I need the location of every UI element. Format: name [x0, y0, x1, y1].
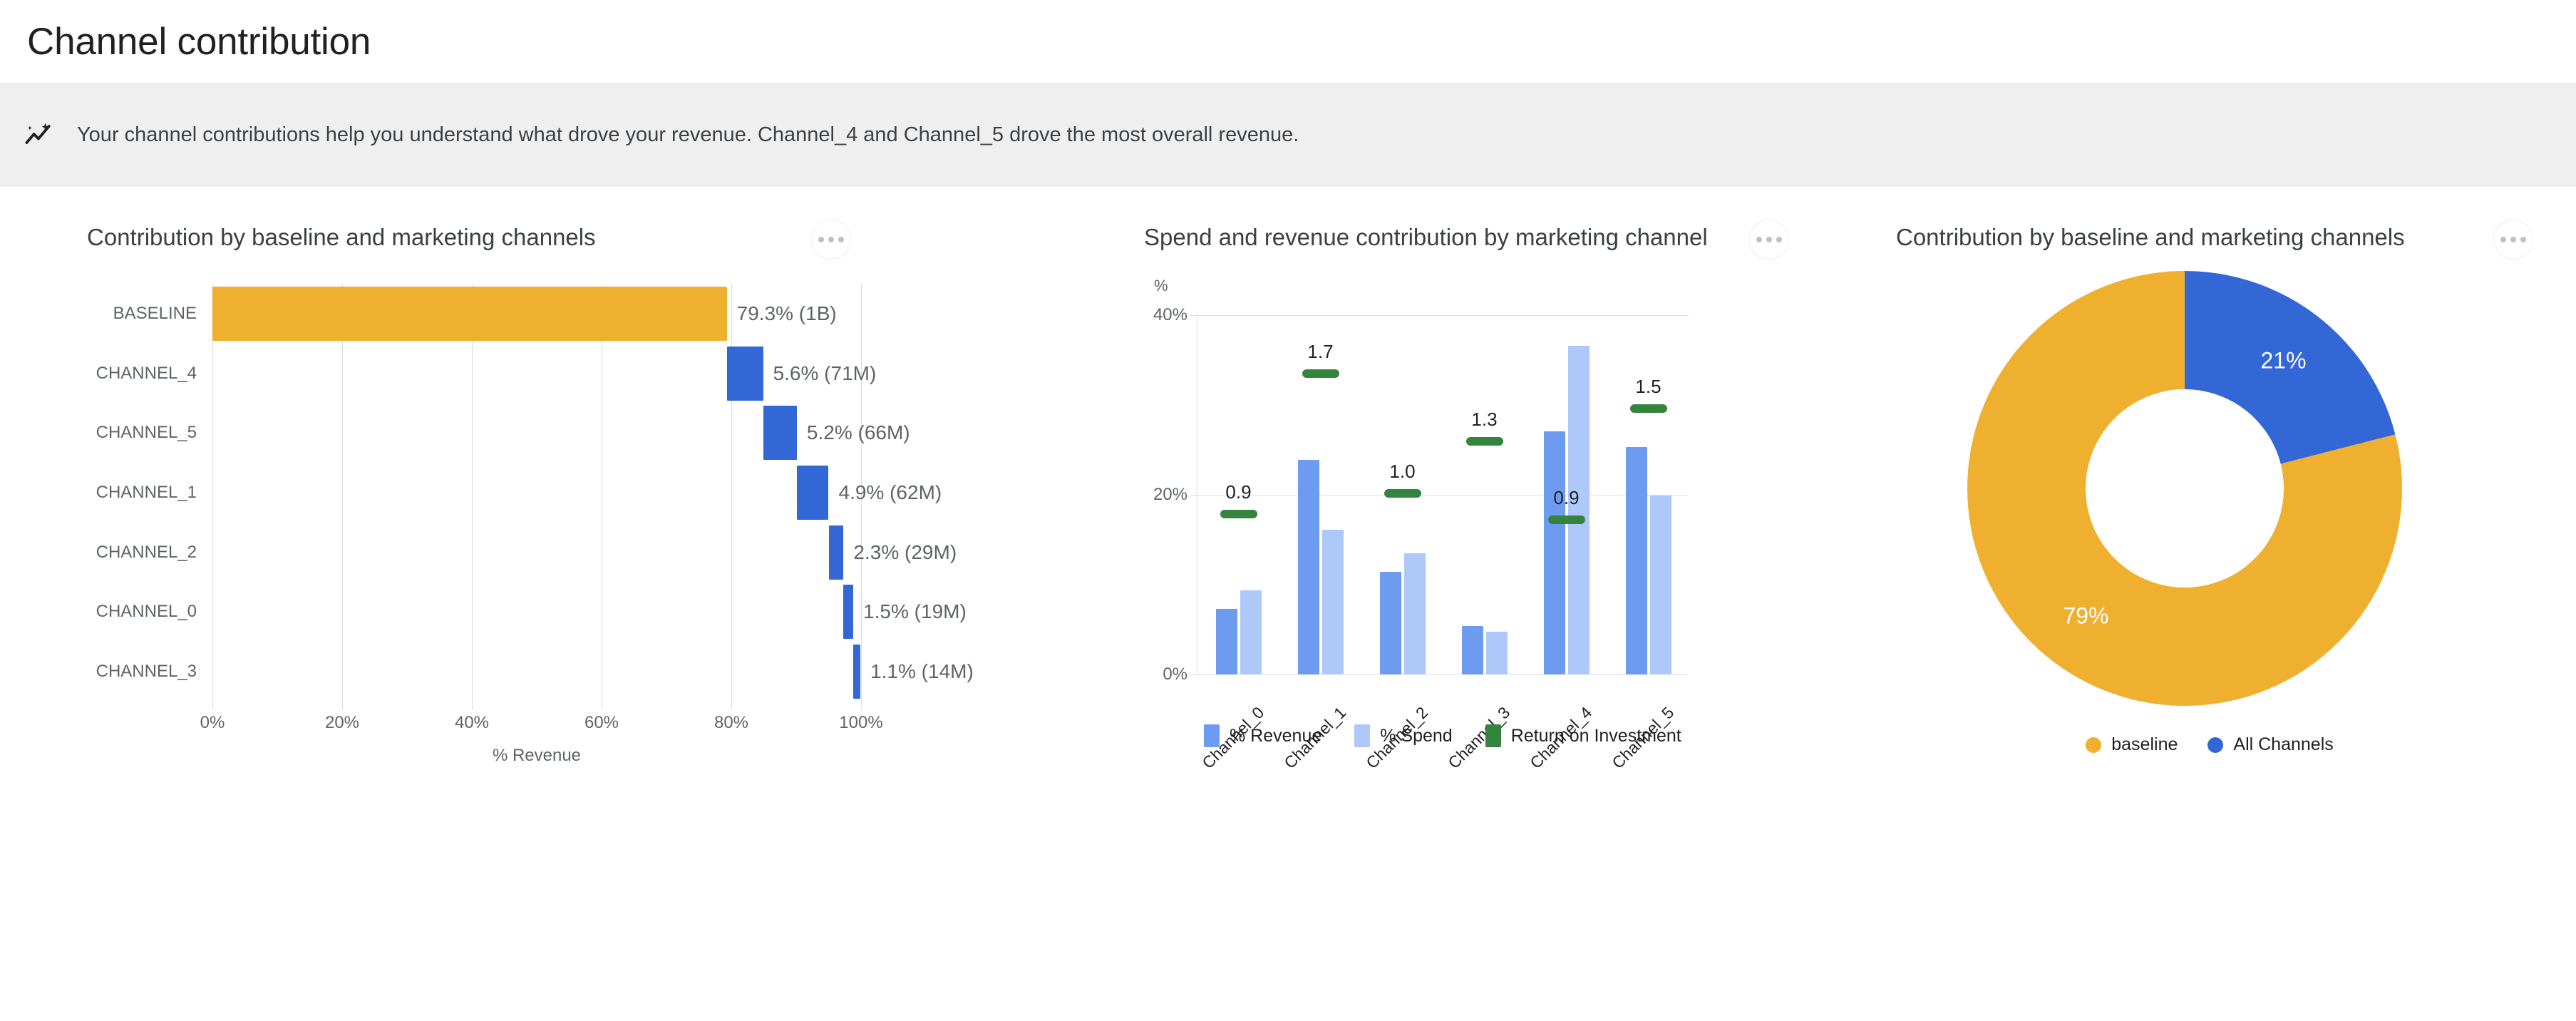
roi-value-label: 1.3 [1471, 409, 1497, 431]
card-title-grouped: Spend and revenue contribution by market… [1144, 224, 1708, 251]
card-header: Contribution by baseline and marketing c… [87, 224, 1062, 265]
donut-legend: baselineAll Channels [1896, 734, 2523, 755]
grouped-bar-group[interactable]: 1.0Channel_2 [1361, 315, 1443, 674]
waterfall-bar[interactable] [212, 287, 727, 341]
grouped-y-tick-label: 0% [1163, 665, 1187, 684]
spend-bar[interactable] [1322, 530, 1344, 674]
roi-value-label: 1.0 [1389, 461, 1415, 483]
dot [1766, 237, 1772, 242]
waterfall-x-tick [342, 702, 343, 710]
legend-swatch [1204, 724, 1220, 747]
roi-value-label: 0.9 [1225, 481, 1251, 503]
waterfall-bar[interactable] [797, 466, 829, 520]
roi-marker[interactable] [1302, 369, 1339, 378]
waterfall-bar[interactable] [853, 645, 860, 699]
grouped-legend-item[interactable]: % Spend [1354, 724, 1452, 747]
page-header: Channel contribution [0, 0, 2576, 83]
donut-hole [2086, 389, 2284, 588]
waterfall-value-label: 1.1% (14M) [870, 660, 974, 683]
spend-bar[interactable] [1404, 553, 1426, 674]
revenue-bar[interactable] [1298, 460, 1319, 674]
waterfall-x-tick-label: 100% [839, 713, 882, 733]
roi-marker[interactable] [1548, 515, 1585, 524]
grouped-legend-item[interactable]: % Revenue [1204, 724, 1322, 747]
waterfall-x-tick-label: 60% [584, 713, 619, 733]
legend-swatch [1354, 724, 1370, 747]
waterfall-value-label: 2.3% (29M) [853, 541, 957, 564]
dot [1776, 237, 1782, 242]
waterfall-x-axis: 0%20%40%60%80%100% [212, 702, 861, 740]
donut-legend-item[interactable]: All Channels [2207, 734, 2333, 755]
dot [828, 237, 834, 242]
legend-label: baseline [2111, 734, 2178, 755]
roi-value-label: 1.7 [1307, 341, 1333, 363]
legend-label: % Revenue [1230, 726, 1322, 746]
legend-dot [2086, 737, 2101, 753]
waterfall-row[interactable]: CHANNEL_31.1% (14M) [212, 642, 861, 702]
roi-value-label: 0.9 [1553, 487, 1579, 509]
roi-marker[interactable] [1466, 437, 1503, 446]
card-donut-contribution: Contribution by baseline and marketing c… [1818, 224, 2576, 770]
spend-bar[interactable] [1240, 590, 1262, 674]
roi-marker[interactable] [1220, 510, 1257, 518]
donut-label-all-channels: 21% [2260, 348, 2306, 374]
grouped-bar-group[interactable]: 0.9Channel_0 [1197, 315, 1279, 674]
spend-bar[interactable] [1650, 496, 1671, 674]
waterfall-x-axis-title: % Revenue [212, 746, 861, 766]
revenue-bar[interactable] [1380, 572, 1401, 674]
waterfall-bar[interactable] [829, 525, 844, 580]
grouped-legend-item[interactable]: Return on Investment [1485, 724, 1681, 747]
roi-value-label: 1.5 [1635, 376, 1661, 398]
waterfall-x-tick [212, 702, 213, 710]
grouped-y-tick [1191, 495, 1197, 496]
waterfall-category-label: CHANNEL_2 [96, 543, 197, 563]
trending-sparkle-icon [20, 116, 57, 153]
page-title: Channel contribution [27, 20, 371, 63]
card-header: Spend and revenue contribution by market… [1144, 224, 1818, 265]
donut-chart: 21%79% baselineAll Channels [1896, 271, 2523, 770]
more-options-icon[interactable] [1749, 220, 1789, 260]
charts-row: Contribution by baseline and marketing c… [0, 187, 2576, 770]
dot [818, 237, 824, 242]
waterfall-category-label: CHANNEL_1 [96, 483, 197, 503]
donut-legend-item[interactable]: baseline [2086, 734, 2178, 755]
waterfall-chart: BASELINE79.3% (1B)CHANNEL_45.6% (71M)CHA… [87, 284, 864, 740]
grouped-y-unit-label: % [1154, 277, 1818, 295]
legend-label: Return on Investment [1511, 726, 1681, 746]
grouped-bar-group[interactable]: 1.5Channel_5 [1607, 315, 1689, 674]
waterfall-x-tick-label: 0% [200, 713, 225, 733]
waterfall-x-tick-label: 20% [325, 713, 359, 733]
waterfall-row[interactable]: BASELINE79.3% (1B) [212, 284, 861, 344]
spend-bar[interactable] [1486, 632, 1508, 674]
grouped-bar-group[interactable]: 1.3Channel_3 [1443, 315, 1525, 674]
grouped-plot-area: 0%20%40%0.9Channel_01.7Channel_11.0Chann… [1197, 315, 1689, 674]
waterfall-row[interactable]: CHANNEL_14.9% (62M) [212, 463, 861, 523]
revenue-bar[interactable] [1216, 609, 1237, 674]
waterfall-value-label: 5.6% (71M) [773, 362, 877, 385]
waterfall-category-label: CHANNEL_5 [96, 423, 197, 443]
waterfall-x-tick [602, 702, 602, 710]
waterfall-plot-area: BASELINE79.3% (1B)CHANNEL_45.6% (71M)CHA… [212, 284, 861, 702]
more-options-icon[interactable] [811, 220, 851, 260]
dot [2510, 237, 2516, 242]
waterfall-bar[interactable] [763, 406, 797, 460]
grouped-bar-chart: 0%20%40%0.9Channel_01.7Channel_11.0Chann… [1148, 299, 1733, 756]
donut-ring: 21%79% [1967, 271, 2402, 706]
roi-marker[interactable] [1384, 489, 1421, 498]
waterfall-category-label: BASELINE [113, 304, 197, 324]
dot [838, 237, 844, 242]
waterfall-x-tick [472, 702, 473, 710]
waterfall-x-tick-label: 40% [455, 713, 489, 733]
grouped-legend: % Revenue% SpendReturn on Investment [1204, 724, 1681, 747]
more-options-icon[interactable] [2493, 220, 2533, 260]
roi-marker[interactable] [1630, 404, 1667, 413]
revenue-bar[interactable] [1462, 626, 1483, 674]
waterfall-row[interactable]: CHANNEL_22.3% (29M) [212, 523, 861, 583]
revenue-bar[interactable] [1544, 431, 1565, 674]
grouped-y-tick-label: 40% [1153, 305, 1187, 325]
card-title-donut: Contribution by baseline and marketing c… [1896, 224, 2405, 251]
insight-banner: Your channel contributions help you unde… [0, 83, 2576, 187]
waterfall-category-label: CHANNEL_3 [96, 662, 197, 682]
waterfall-bar[interactable] [843, 585, 853, 639]
waterfall-row[interactable]: CHANNEL_55.2% (66M) [212, 403, 861, 463]
dot [2500, 237, 2506, 242]
grouped-y-tick-label: 20% [1153, 485, 1187, 505]
dot [1756, 237, 1762, 242]
waterfall-bar[interactable] [727, 347, 763, 401]
waterfall-x-tick [731, 702, 732, 710]
waterfall-row[interactable]: CHANNEL_01.5% (19M) [212, 583, 861, 642]
legend-label: % Spend [1380, 726, 1452, 746]
donut-label-baseline: 79% [2063, 602, 2108, 629]
grouped-bar-group[interactable]: 1.7Channel_1 [1279, 315, 1361, 674]
waterfall-value-label: 4.9% (62M) [839, 481, 942, 504]
grouped-y-tick [1191, 315, 1197, 316]
dot [2520, 237, 2526, 242]
waterfall-category-label: CHANNEL_0 [96, 602, 197, 622]
waterfall-category-label: CHANNEL_4 [96, 364, 197, 384]
waterfall-value-label: 5.2% (66M) [807, 421, 910, 444]
grouped-bar-group[interactable]: 0.9Channel_4 [1525, 315, 1607, 674]
card-header: Contribution by baseline and marketing c… [1896, 224, 2576, 265]
legend-swatch [1485, 724, 1501, 747]
grouped-y-tick [1191, 674, 1197, 675]
insight-text: Your channel contributions help you unde… [77, 123, 1299, 147]
card-waterfall-contribution: Contribution by baseline and marketing c… [0, 224, 1062, 770]
revenue-bar[interactable] [1626, 447, 1647, 674]
card-title-waterfall: Contribution by baseline and marketing c… [87, 224, 596, 251]
waterfall-row[interactable]: CHANNEL_45.6% (71M) [212, 344, 861, 404]
legend-dot [2207, 737, 2223, 753]
waterfall-value-label: 1.5% (19M) [863, 600, 967, 623]
waterfall-x-tick-label: 80% [714, 713, 748, 733]
spend-bar[interactable] [1568, 346, 1590, 674]
waterfall-x-tick [861, 702, 862, 710]
legend-label: All Channels [2233, 734, 2333, 755]
card-spend-revenue: Spend and revenue contribution by market… [1062, 224, 1818, 770]
waterfall-value-label: 79.3% (1B) [737, 302, 837, 325]
